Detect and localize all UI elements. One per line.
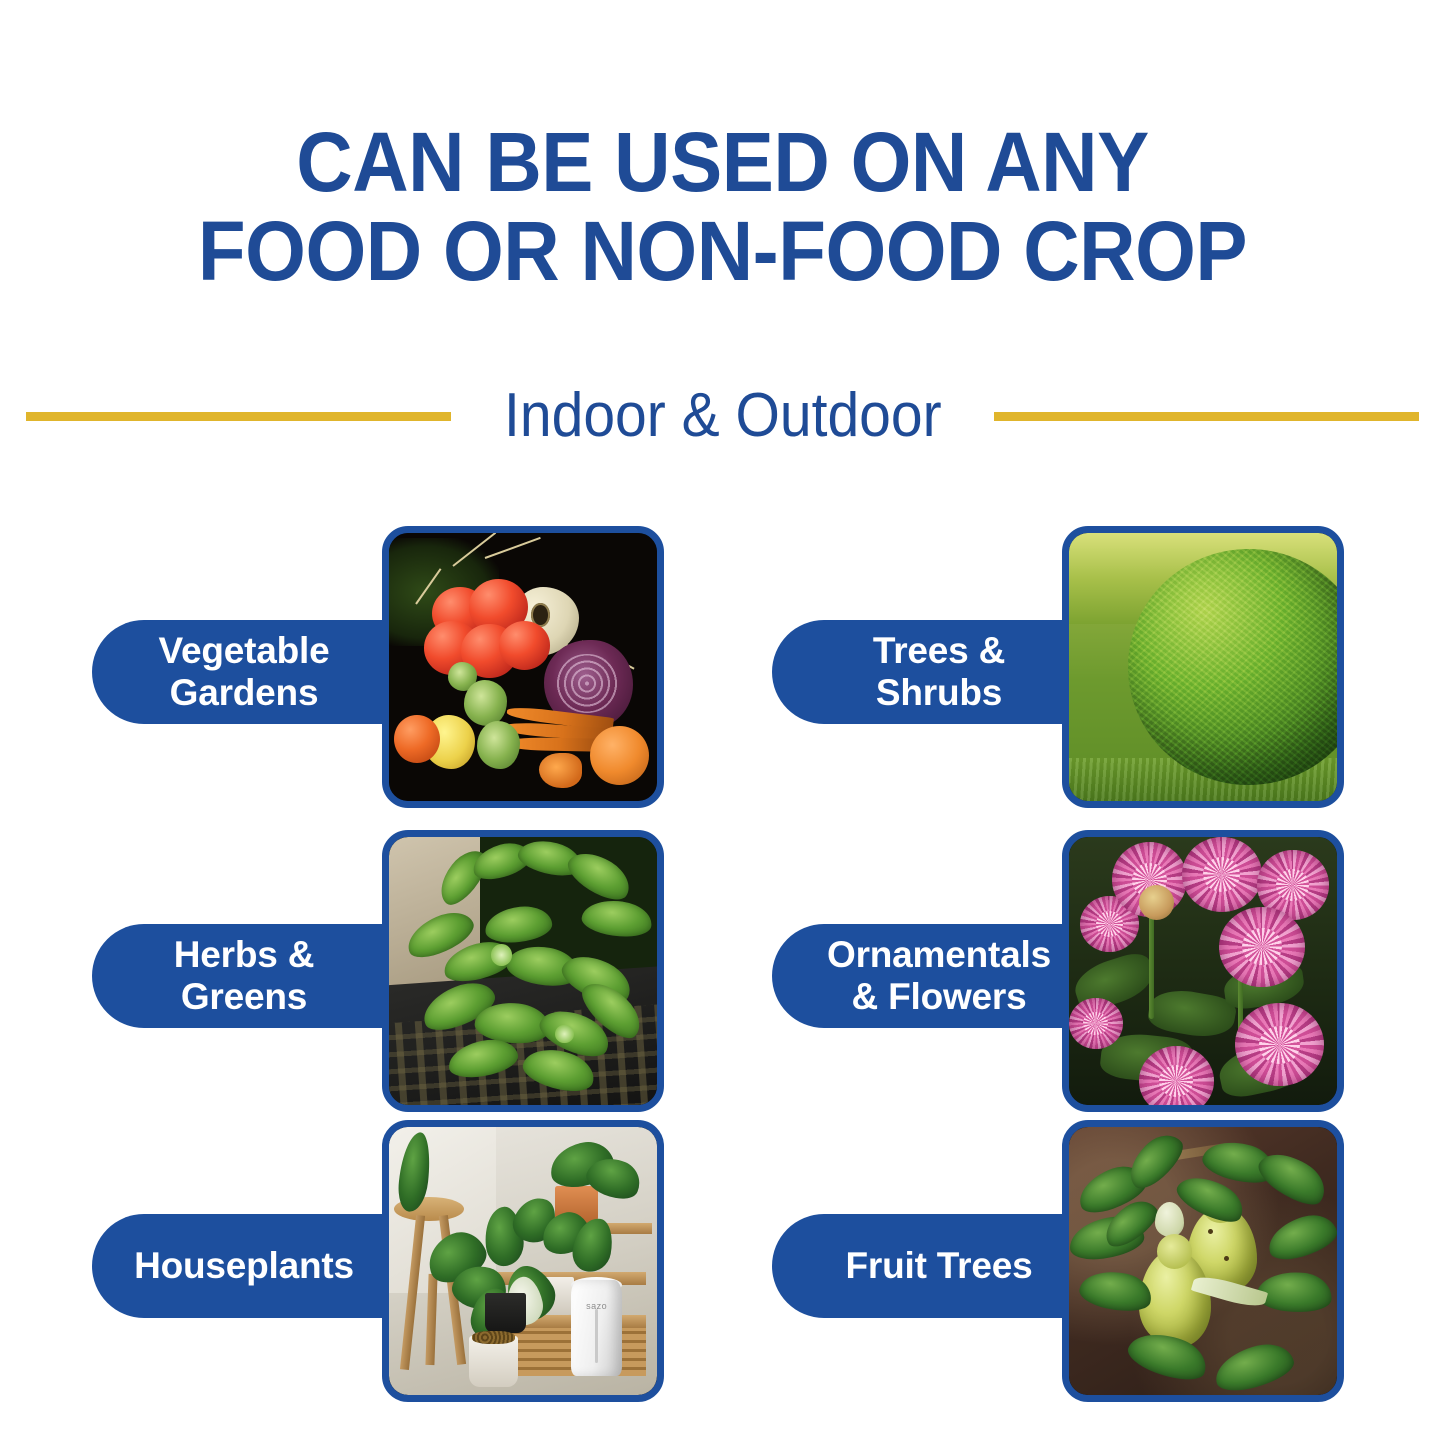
flowers-photo	[1069, 837, 1337, 1105]
houseplants-photo: sazo	[389, 1127, 657, 1395]
category-grid: Vegetable Gardens Trees & Shrubs	[0, 500, 1445, 1430]
category-item-houseplants[interactable]: Houseplants	[60, 1106, 680, 1406]
category-label: Fruit Trees	[846, 1245, 1033, 1287]
vegetables-photo	[389, 533, 657, 801]
category-image-card	[1062, 526, 1344, 808]
header: CAN BE USED ON ANY FOOD OR NON-FOOD CROP	[0, 0, 1445, 296]
fruit-trees-photo	[1069, 1127, 1337, 1395]
category-item-fruit-trees[interactable]: Fruit Trees	[740, 1106, 1360, 1406]
category-label: Houseplants	[134, 1245, 354, 1287]
category-label: Herbs & Greens	[174, 934, 314, 1018]
divider-rule-right	[994, 412, 1419, 421]
subtitle-row: Indoor & Outdoor	[0, 385, 1445, 447]
category-pill[interactable]: Ornamentals & Flowers	[772, 924, 1102, 1028]
category-pill[interactable]: Houseplants	[92, 1214, 392, 1318]
herbs-photo	[389, 837, 657, 1105]
category-pill[interactable]: Herbs & Greens	[92, 924, 392, 1028]
category-label: Vegetable Gardens	[159, 630, 330, 714]
category-pill[interactable]: Vegetable Gardens	[92, 620, 392, 724]
category-pill[interactable]: Trees & Shrubs	[772, 620, 1102, 724]
category-item-trees-shrubs[interactable]: Trees & Shrubs	[740, 512, 1360, 812]
category-label: Trees & Shrubs	[810, 630, 1068, 714]
category-pill[interactable]: Fruit Trees	[772, 1214, 1102, 1318]
category-image-card	[382, 830, 664, 1112]
page-title: CAN BE USED ON ANY FOOD OR NON-FOOD CROP	[51, 0, 1395, 296]
category-item-ornamentals-flowers[interactable]: Ornamentals & Flowers	[740, 816, 1360, 1116]
category-image-card	[1062, 830, 1344, 1112]
category-item-herbs-greens[interactable]: Herbs & Greens	[60, 816, 680, 1116]
category-item-vegetable-gardens[interactable]: Vegetable Gardens	[60, 512, 680, 812]
category-image-card	[382, 526, 664, 808]
category-image-card: sazo	[382, 1120, 664, 1402]
category-image-card	[1062, 1120, 1344, 1402]
shrub-photo	[1069, 533, 1337, 801]
divider-rule-left	[26, 412, 451, 421]
subtitle: Indoor & Outdoor	[504, 385, 942, 447]
category-label: Ornamentals & Flowers	[827, 934, 1051, 1018]
